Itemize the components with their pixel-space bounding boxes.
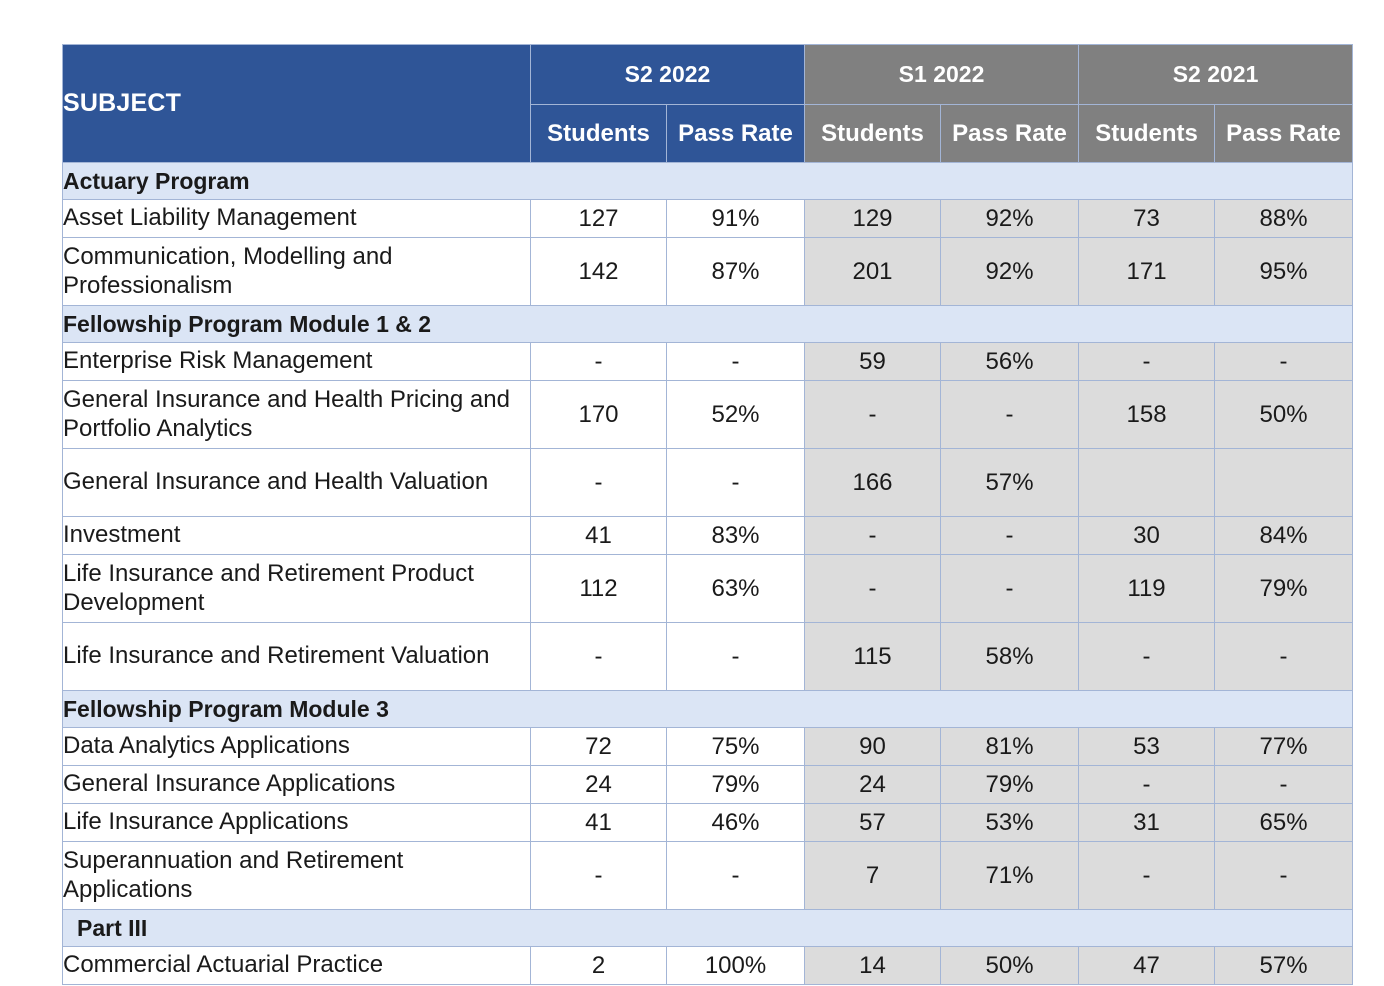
section-title: Part III <box>63 910 1353 947</box>
cell-pass-rate-s2-2022: 100% <box>667 947 805 985</box>
cell-subject: General Insurance and Health Pricing and… <box>63 381 531 449</box>
cell-students-s1-2022: 115 <box>805 623 941 691</box>
header-row-periods: SUBJECT S2 2022 S1 2022 S2 2021 <box>63 45 1353 105</box>
cell-pass-rate-s2-2022: 52% <box>667 381 805 449</box>
cell-pass-rate-s2-2022: 79% <box>667 766 805 804</box>
cell-students-s2-2022: - <box>531 449 667 517</box>
cell-pass-rate-s1-2022: 79% <box>941 766 1079 804</box>
cell-students-s2-2022: 2 <box>531 947 667 985</box>
cell-students-s2-2022: 142 <box>531 238 667 306</box>
column-header-pass-rate-s2-2022: Pass Rate <box>667 105 805 163</box>
section-title: Fellowship Program Module 3 <box>63 691 1353 728</box>
cell-subject: Life Insurance and Retirement Product De… <box>63 555 531 623</box>
cell-pass-rate-s2-2022: 83% <box>667 517 805 555</box>
cell-students-s2-2021: 171 <box>1079 238 1215 306</box>
cell-pass-rate-s2-2022: - <box>667 343 805 381</box>
table-row: General Insurance Applications2479%2479%… <box>63 766 1353 804</box>
cell-students-s2-2021 <box>1079 449 1215 517</box>
cell-students-s2-2022: 72 <box>531 728 667 766</box>
cell-students-s2-2021: 158 <box>1079 381 1215 449</box>
cell-students-s2-2021: 53 <box>1079 728 1215 766</box>
cell-pass-rate-s2-2021: 79% <box>1215 555 1353 623</box>
cell-pass-rate-s1-2022: 53% <box>941 804 1079 842</box>
section-header-row: Fellowship Program Module 1 & 2 <box>63 306 1353 343</box>
cell-pass-rate-s2-2021: 50% <box>1215 381 1353 449</box>
column-header-students-s2-2021: Students <box>1079 105 1215 163</box>
exam-results-table: SUBJECT S2 2022 S1 2022 S2 2021 Students… <box>62 44 1353 985</box>
cell-students-s1-2022: - <box>805 381 941 449</box>
column-header-pass-rate-s2-2021: Pass Rate <box>1215 105 1353 163</box>
cell-pass-rate-s1-2022: 92% <box>941 200 1079 238</box>
cell-students-s2-2021: 31 <box>1079 804 1215 842</box>
exam-results-table-container: SUBJECT S2 2022 S1 2022 S2 2021 Students… <box>62 44 1348 985</box>
column-header-subject: SUBJECT <box>63 45 531 163</box>
column-header-students-s1-2022: Students <box>805 105 941 163</box>
cell-pass-rate-s1-2022: - <box>941 555 1079 623</box>
cell-subject: Asset Liability Management <box>63 200 531 238</box>
cell-pass-rate-s2-2022: - <box>667 449 805 517</box>
cell-pass-rate-s2-2021: 84% <box>1215 517 1353 555</box>
table-row: Life Insurance and Retirement Valuation-… <box>63 623 1353 691</box>
cell-students-s1-2022: 59 <box>805 343 941 381</box>
cell-pass-rate-s2-2022: 91% <box>667 200 805 238</box>
table-header: SUBJECT S2 2022 S1 2022 S2 2021 Students… <box>63 45 1353 163</box>
cell-pass-rate-s2-2021: 95% <box>1215 238 1353 306</box>
table-row: Investment4183%--3084% <box>63 517 1353 555</box>
cell-students-s2-2021: - <box>1079 766 1215 804</box>
cell-pass-rate-s1-2022: 50% <box>941 947 1079 985</box>
table-row: Life Insurance and Retirement Product De… <box>63 555 1353 623</box>
cell-pass-rate-s2-2021 <box>1215 449 1353 517</box>
column-header-period-s2-2021: S2 2021 <box>1079 45 1353 105</box>
cell-subject: Life Insurance Applications <box>63 804 531 842</box>
cell-pass-rate-s1-2022: 58% <box>941 623 1079 691</box>
cell-pass-rate-s1-2022: - <box>941 381 1079 449</box>
cell-students-s1-2022: - <box>805 517 941 555</box>
cell-subject: Enterprise Risk Management <box>63 343 531 381</box>
cell-students-s2-2021: - <box>1079 623 1215 691</box>
cell-students-s1-2022: 24 <box>805 766 941 804</box>
cell-subject: General Insurance and Health Valuation <box>63 449 531 517</box>
cell-subject: Data Analytics Applications <box>63 728 531 766</box>
cell-subject: Commercial Actuarial Practice <box>63 947 531 985</box>
cell-students-s2-2022: - <box>531 623 667 691</box>
cell-pass-rate-s2-2021: 77% <box>1215 728 1353 766</box>
column-header-pass-rate-s1-2022: Pass Rate <box>941 105 1079 163</box>
cell-students-s2-2021: 119 <box>1079 555 1215 623</box>
cell-pass-rate-s2-2022: 46% <box>667 804 805 842</box>
cell-students-s2-2022: - <box>531 343 667 381</box>
section-header-row: Part III <box>63 910 1353 947</box>
cell-pass-rate-s1-2022: 81% <box>941 728 1079 766</box>
cell-pass-rate-s2-2021: - <box>1215 842 1353 910</box>
cell-pass-rate-s2-2022: 87% <box>667 238 805 306</box>
cell-students-s2-2022: 127 <box>531 200 667 238</box>
cell-pass-rate-s2-2021: 88% <box>1215 200 1353 238</box>
cell-students-s2-2022: 112 <box>531 555 667 623</box>
cell-subject: General Insurance Applications <box>63 766 531 804</box>
table-row: General Insurance and Health Pricing and… <box>63 381 1353 449</box>
cell-students-s1-2022: 166 <box>805 449 941 517</box>
cell-subject: Investment <box>63 517 531 555</box>
table-row: Enterprise Risk Management--5956%-- <box>63 343 1353 381</box>
cell-pass-rate-s2-2021: 65% <box>1215 804 1353 842</box>
section-header-row: Fellowship Program Module 3 <box>63 691 1353 728</box>
cell-students-s1-2022: - <box>805 555 941 623</box>
cell-students-s2-2022: 170 <box>531 381 667 449</box>
cell-students-s2-2021: 30 <box>1079 517 1215 555</box>
cell-students-s2-2022: 41 <box>531 804 667 842</box>
cell-pass-rate-s2-2022: 75% <box>667 728 805 766</box>
section-title: Actuary Program <box>63 163 1353 200</box>
cell-pass-rate-s1-2022: 57% <box>941 449 1079 517</box>
cell-pass-rate-s2-2021: - <box>1215 623 1353 691</box>
cell-students-s1-2022: 7 <box>805 842 941 910</box>
cell-students-s1-2022: 201 <box>805 238 941 306</box>
table-row: Commercial Actuarial Practice2100%1450%4… <box>63 947 1353 985</box>
cell-subject: Communication, Modelling and Professiona… <box>63 238 531 306</box>
cell-pass-rate-s1-2022: 71% <box>941 842 1079 910</box>
column-header-period-s1-2022: S1 2022 <box>805 45 1079 105</box>
cell-students-s2-2021: 47 <box>1079 947 1215 985</box>
cell-students-s1-2022: 14 <box>805 947 941 985</box>
section-title: Fellowship Program Module 1 & 2 <box>63 306 1353 343</box>
cell-students-s2-2022: - <box>531 842 667 910</box>
cell-pass-rate-s2-2021: - <box>1215 766 1353 804</box>
section-header-row: Actuary Program <box>63 163 1353 200</box>
cell-students-s1-2022: 90 <box>805 728 941 766</box>
cell-pass-rate-s1-2022: 92% <box>941 238 1079 306</box>
table-row: General Insurance and Health Valuation--… <box>63 449 1353 517</box>
table-row: Life Insurance Applications4146%5753%316… <box>63 804 1353 842</box>
cell-pass-rate-s2-2022: - <box>667 842 805 910</box>
cell-subject: Life Insurance and Retirement Valuation <box>63 623 531 691</box>
cell-pass-rate-s2-2021: 57% <box>1215 947 1353 985</box>
cell-students-s2-2021: - <box>1079 343 1215 381</box>
cell-students-s2-2022: 41 <box>531 517 667 555</box>
cell-students-s2-2021: - <box>1079 842 1215 910</box>
table-row: Asset Liability Management12791%12992%73… <box>63 200 1353 238</box>
cell-pass-rate-s2-2021: - <box>1215 343 1353 381</box>
table-row: Data Analytics Applications7275%9081%537… <box>63 728 1353 766</box>
cell-students-s1-2022: 129 <box>805 200 941 238</box>
table-row: Superannuation and Retirement Applicatio… <box>63 842 1353 910</box>
cell-subject: Superannuation and Retirement Applicatio… <box>63 842 531 910</box>
column-header-students-s2-2022: Students <box>531 105 667 163</box>
cell-pass-rate-s2-2022: - <box>667 623 805 691</box>
column-header-period-s2-2022: S2 2022 <box>531 45 805 105</box>
cell-pass-rate-s1-2022: - <box>941 517 1079 555</box>
cell-students-s2-2021: 73 <box>1079 200 1215 238</box>
cell-students-s1-2022: 57 <box>805 804 941 842</box>
table-row: Communication, Modelling and Professiona… <box>63 238 1353 306</box>
table-body: Actuary ProgramAsset Liability Managemen… <box>63 163 1353 985</box>
cell-students-s2-2022: 24 <box>531 766 667 804</box>
cell-pass-rate-s1-2022: 56% <box>941 343 1079 381</box>
cell-pass-rate-s2-2022: 63% <box>667 555 805 623</box>
